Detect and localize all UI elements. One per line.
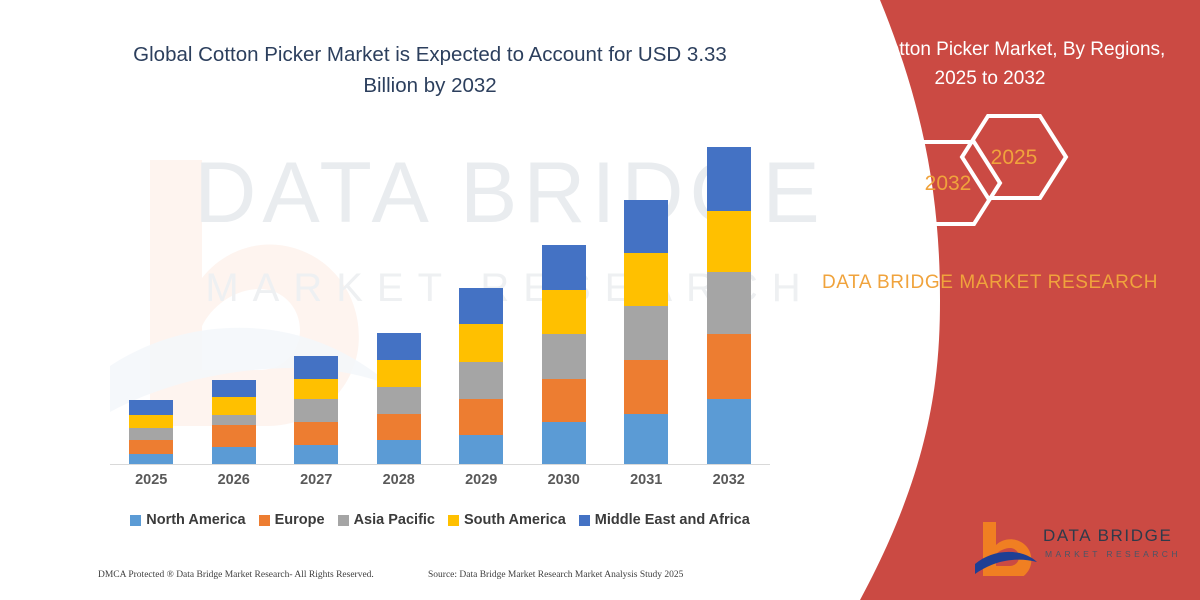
legend-label: North America [146,512,245,528]
x-axis-label: 2032 [689,472,769,488]
brand-panel: Global Cotton Picker Market, By Regions,… [780,0,1200,600]
bar-segment [294,422,338,445]
bar-segment [212,425,256,447]
bar-column [377,333,421,465]
footer-copyright: DMCA Protected ® Data Bridge Market Rese… [98,570,374,580]
bar-segment [129,415,173,428]
legend-item[interactable]: North America [130,512,245,528]
bar-segment [707,211,751,272]
bar-segment [294,445,338,465]
bar-segment [624,200,668,253]
bar-segment [459,435,503,465]
legend-swatch-icon [130,515,141,526]
bar-segment [459,362,503,399]
bar-segment [707,334,751,399]
x-axis-line [110,464,770,465]
bar-segment [624,253,668,306]
bar-segment [377,440,421,465]
legend-item[interactable]: Europe [259,512,325,528]
data-bridge-mark-icon [975,520,1037,576]
bar-segment [624,306,668,360]
bar-segment [707,272,751,334]
bar-segment [212,397,256,415]
bar-segment [459,288,503,324]
x-axis-label: 2029 [441,472,521,488]
bar-segment [542,334,586,379]
footer-source: Source: Data Bridge Market Research Mark… [428,570,683,580]
bar-segment [542,245,586,290]
x-axis-label: 2031 [606,472,686,488]
bar-segment [129,440,173,454]
bar-segment [707,399,751,465]
stacked-bar-chart [110,140,770,465]
bar-segment [459,324,503,362]
bar-segment [294,356,338,379]
bar-segment [294,399,338,422]
x-axis-label: 2025 [111,472,191,488]
legend-label: Middle East and Africa [595,512,750,528]
bar-segment [377,414,421,440]
legend-label: Asia Pacific [354,512,435,528]
bar-segment [624,414,668,465]
legend-swatch-icon [259,515,270,526]
logo-subtitle: MARKET RESEARCH [1045,549,1181,559]
data-bridge-logo: DATA BRIDGE MARKET RESEARCH [975,518,1190,580]
bar-segment [542,290,586,334]
chart-panel: DATA BRIDGE MARKET RESEARCH Global Cotto… [0,0,860,600]
brand-panel-name: DATA BRIDGE MARKET RESEARCH [800,268,1180,297]
bar-segment [377,387,421,414]
legend-swatch-icon [579,515,590,526]
bar-column [294,356,338,465]
x-axis-label: 2030 [524,472,604,488]
bar-column [212,380,256,465]
hex-label-near-year: 2025 [962,146,1066,170]
page-title: Global Cotton Picker Market is Expected … [120,40,740,102]
legend-item[interactable]: Asia Pacific [338,512,435,528]
bar-segment [377,360,421,387]
legend-swatch-icon [338,515,349,526]
bar-segment [212,380,256,397]
infographic-root: DATA BRIDGE MARKET RESEARCH Global Cotto… [0,0,1200,600]
x-axis-labels: 20252026202720282029203020312032 [110,472,770,498]
bar-segment [542,422,586,465]
bar-column [459,288,503,465]
legend-label: Europe [275,512,325,528]
legend-item[interactable]: South America [448,512,566,528]
legend-swatch-icon [448,515,459,526]
chart-legend: North AmericaEuropeAsia PacificSouth Ame… [110,512,770,528]
bar-segment [624,360,668,414]
x-axis-label: 2026 [194,472,274,488]
year-hexagons: 2025 2032 [880,112,1100,227]
bar-segment [377,333,421,360]
brand-panel-title: Global Cotton Picker Market, By Regions,… [810,36,1170,93]
logo-name: DATA BRIDGE [1043,526,1172,546]
legend-item[interactable]: Middle East and Africa [579,512,750,528]
bar-segment [542,379,586,422]
bar-column [707,147,751,465]
bar-segment [129,428,173,440]
bar-segment [212,447,256,465]
bar-segment [294,379,338,399]
bar-segment [129,400,173,415]
bar-column [129,400,173,465]
bar-segment [459,399,503,435]
x-axis-label: 2028 [359,472,439,488]
bar-column [542,245,586,465]
x-axis-label: 2027 [276,472,356,488]
hex-label-far-year: 2032 [896,172,1000,196]
legend-label: South America [464,512,566,528]
bar-segment [707,147,751,211]
bar-segment [212,415,256,425]
bar-column [624,200,668,465]
